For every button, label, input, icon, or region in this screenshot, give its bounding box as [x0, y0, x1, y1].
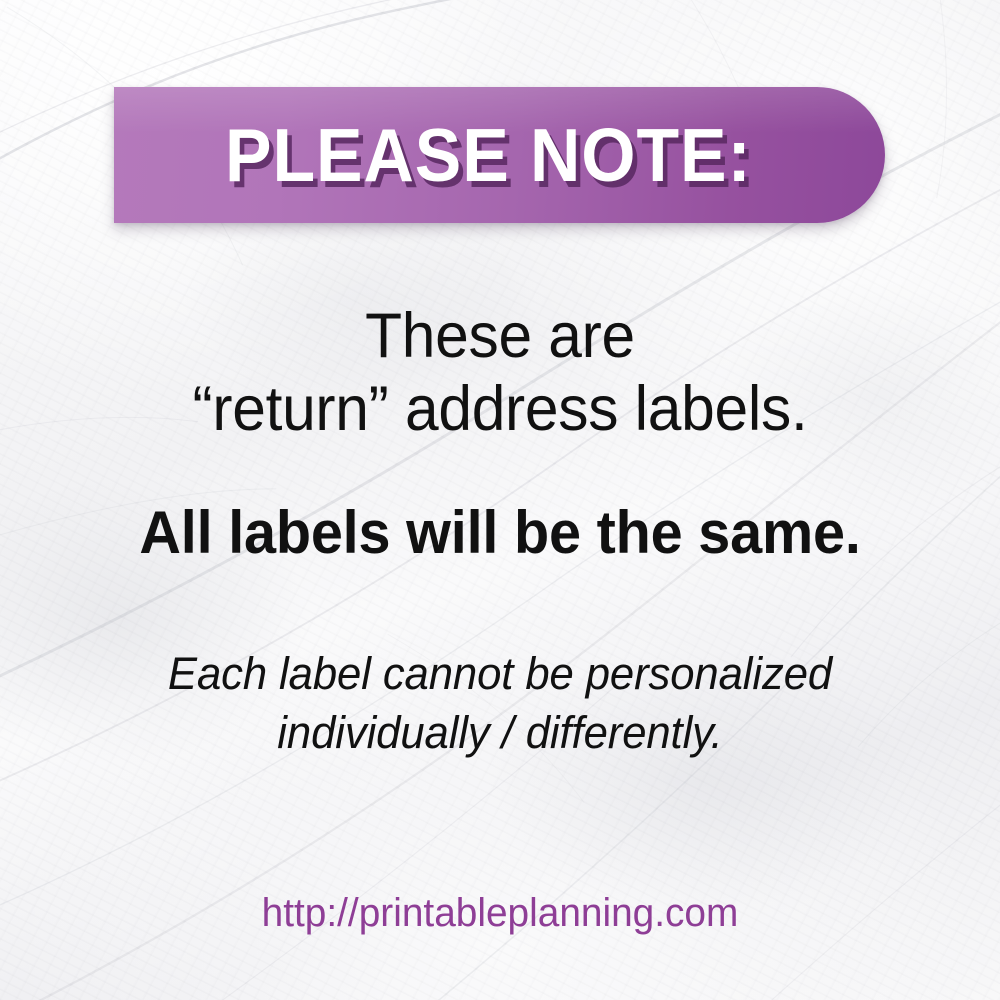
please-note-banner: PLEASE NOTE: — [114, 87, 885, 223]
note-graphic-canvas: PLEASE NOTE: These are “return” address … — [0, 0, 1000, 1000]
site-url-link[interactable]: http://printableplanning.com — [15, 891, 985, 936]
caveat-text: Each label cannot be personalized indivi… — [15, 645, 985, 762]
emphasis-text: All labels will be the same. — [20, 500, 980, 566]
intro-text: These are “return” address labels. — [20, 300, 980, 446]
banner-title: PLEASE NOTE: — [141, 87, 858, 223]
